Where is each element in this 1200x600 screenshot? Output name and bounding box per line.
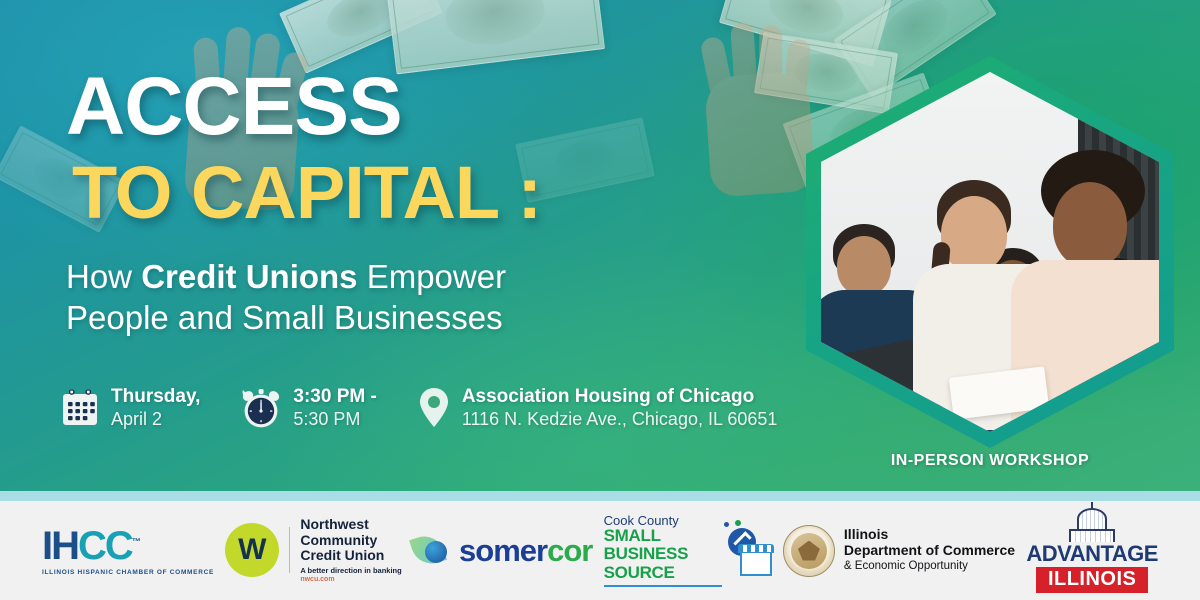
nwcu-name-line-2: Community (300, 533, 401, 549)
sponsor-logo-bar: IHCC™ ILLINOIS HISPANIC CHAMBER OF COMME… (0, 501, 1200, 600)
logo-somercor: somercor (413, 533, 592, 569)
nwcu-divider (289, 527, 290, 573)
subtitle-pre: How (66, 258, 141, 295)
event-time: 3:30 PM - 5:30 PM (240, 386, 376, 430)
event-banner: ACCESS TO CAPITAL : How Credit Unions Em… (0, 0, 1200, 600)
ihcc-wordmark: IHCC™ (42, 526, 141, 566)
somercor-word-blue: somer (459, 533, 547, 568)
hexagon-photo-frame (806, 56, 1174, 448)
sbs-line-source: SOURCE (604, 564, 722, 582)
illinois-state-seal-icon (783, 525, 835, 577)
sbs-line-business: BUSINESS (604, 545, 722, 563)
ihcc-mark-teal: CC (78, 524, 132, 568)
subtitle-post: Empower (358, 258, 507, 295)
somercor-leaf-icon (413, 533, 453, 569)
nwcu-name-line-1: Northwest (300, 517, 401, 533)
event-venue-address: 1116 N. Kedzie Ave., Chicago, IL 60651 (462, 409, 778, 431)
subtitle: How Credit Unions Empower People and Sma… (66, 256, 766, 339)
logo-advantage-illinois: ADVANTAGE ILLINOIS (1026, 508, 1158, 593)
workshop-format-label: IN-PERSON WORKSHOP (806, 452, 1174, 470)
logo-ihcc: IHCC™ ILLINOIS HISPANIC CHAMBER OF COMME… (42, 526, 214, 576)
calendar-icon (60, 388, 100, 428)
illinois-wordmark: ILLINOIS (1036, 567, 1148, 593)
dceo-line-3: & Economic Opportunity (844, 560, 1015, 573)
event-time-secondary: 5:30 PM (293, 409, 376, 431)
ihcc-subtitle: ILLINOIS HISPANIC CHAMBER OF COMMERCE (42, 569, 214, 576)
event-location: Association Housing of Chicago 1116 N. K… (417, 386, 778, 430)
logo-cook-county-small-business-source: Cook County SMALL BUSINESS SOURCE (604, 514, 772, 586)
nwcu-tagline: A better direction in banking (300, 567, 401, 575)
somercor-word-green: cor (547, 533, 592, 568)
event-date: Thursday, April 2 (60, 386, 200, 430)
ihcc-mark-dark: IH (42, 524, 78, 568)
trademark-icon: ™ (132, 536, 141, 546)
dceo-line-1: Illinois (844, 527, 1015, 543)
event-details: Thursday, April 2 (60, 386, 777, 430)
event-date-secondary: April 2 (111, 409, 200, 431)
clock-icon (240, 387, 282, 429)
headline-block: ACCESS TO CAPITAL : How Credit Unions Em… (66, 68, 766, 339)
sbs-line-small: SMALL (604, 527, 722, 545)
storefront-growth-icon (726, 522, 772, 578)
advantage-wordmark: ADVANTAGE (1026, 543, 1158, 565)
title-line-1: ACCESS (66, 68, 766, 147)
subtitle-emphasis: Credit Unions (141, 258, 357, 295)
nwcu-badge-icon: W (225, 523, 279, 577)
title-line-2: TO CAPITAL : (72, 157, 766, 228)
event-date-primary: Thursday, (111, 386, 200, 409)
subtitle-line-2: People and Small Businesses (66, 299, 503, 336)
event-time-primary: 3:30 PM - (293, 386, 376, 409)
capitol-dome-icon (1066, 508, 1118, 542)
somercor-wordmark: somercor (459, 533, 592, 569)
logo-illinois-dceo: Illinois Department of Commerce & Econom… (783, 525, 1015, 577)
dollar-bill-icon (385, 0, 605, 74)
location-pin-icon (417, 386, 451, 430)
dceo-line-2: Department of Commerce (844, 543, 1015, 559)
sbs-underline (604, 585, 722, 587)
event-venue-name: Association Housing of Chicago (462, 386, 778, 409)
logo-northwest-community-credit-union: W Northwest Community Credit Union A bet… (225, 517, 401, 584)
section-divider (0, 491, 1200, 501)
nwcu-name-line-3: Credit Union (300, 548, 401, 564)
nwcu-url: nwcu.com (300, 576, 401, 584)
